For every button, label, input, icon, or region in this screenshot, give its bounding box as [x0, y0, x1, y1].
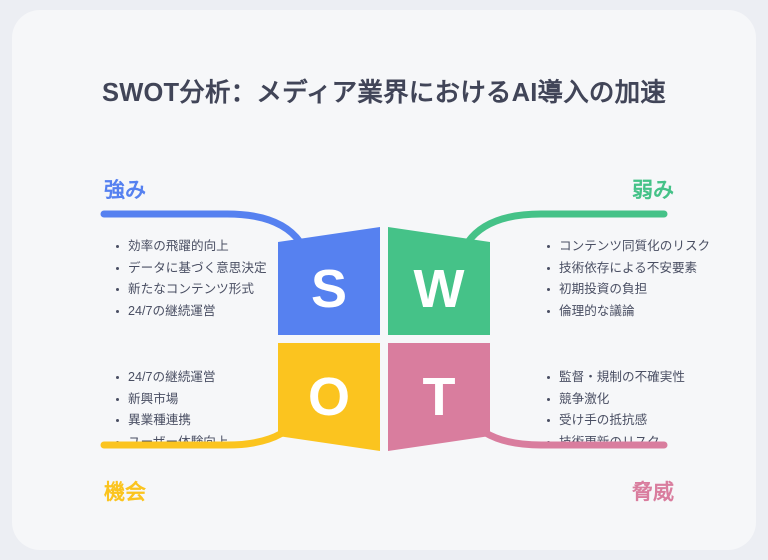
- letter-s-text: S: [311, 259, 347, 319]
- bullet-list-threats: 監督・規制の不確実性 競争激化 受け手の抵抗感 技術更新のリスク: [545, 367, 685, 453]
- quadrant-shape-threats: [388, 343, 490, 451]
- list-item: 初期投資の負担: [545, 279, 710, 301]
- list-item: 新たなコンテンツ形式: [114, 279, 267, 301]
- list-item: 受け手の抵抗感: [545, 410, 685, 432]
- swot-letters: S W O T: [308, 259, 465, 427]
- list-item: 24/7の継続運営: [114, 367, 229, 389]
- quadrant-label-threats: 脅威: [632, 476, 674, 506]
- list-item: 技術依存による不安要素: [545, 258, 710, 280]
- quadrant-shape-weaknesses: [388, 227, 490, 335]
- quadrant-label-weaknesses: 弱み: [632, 174, 674, 204]
- list-item: 効率の飛躍的向上: [114, 236, 267, 258]
- bullet-list-strengths: 効率の飛躍的向上 データに基づく意思決定 新たなコンテンツ形式 24/7の継続運…: [114, 236, 267, 322]
- quadrant-label-strengths: 強み: [104, 174, 146, 204]
- list-item: 新興市場: [114, 389, 229, 411]
- quadrant-shape-opportunities: [278, 343, 380, 451]
- quadrant-label-opportunities: 機会: [104, 476, 146, 506]
- list-item: 競争激化: [545, 389, 685, 411]
- list-item: データに基づく意思決定: [114, 258, 267, 280]
- swot-card: SWOT分析：メディア業界におけるAI導入の加速 強み 弱み 機会 脅威 効率の…: [12, 10, 756, 550]
- list-item: ユーザー体験向上: [114, 432, 229, 454]
- page-title: SWOT分析：メディア業界におけるAI導入の加速: [12, 72, 756, 109]
- letter-o-text: O: [308, 367, 350, 427]
- letter-t-text: T: [423, 367, 456, 427]
- quadrant-shape-strengths: [278, 227, 380, 335]
- list-item: 技術更新のリスク: [545, 432, 685, 454]
- quadrant-gutters: [272, 220, 496, 460]
- list-item: コンテンツ同質化のリスク: [545, 236, 710, 258]
- bullet-list-weaknesses: コンテンツ同質化のリスク 技術依存による不安要素 初期投資の負担 倫理的な議論: [545, 236, 710, 322]
- list-item: 監督・規制の不確実性: [545, 367, 685, 389]
- list-item: 24/7の継続運営: [114, 301, 267, 323]
- letter-w-text: W: [414, 259, 465, 319]
- bullet-list-opportunities: 24/7の継続運営 新興市場 異業種連携 ユーザー体験向上: [114, 367, 229, 453]
- list-item: 異業種連携: [114, 410, 229, 432]
- list-item: 倫理的な議論: [545, 301, 710, 323]
